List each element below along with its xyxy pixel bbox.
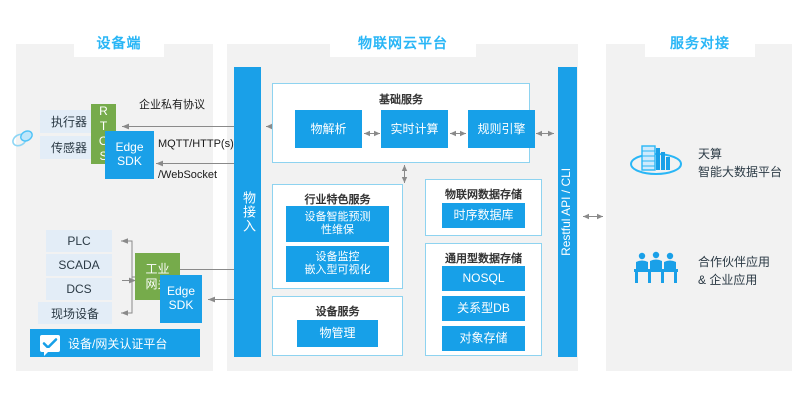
endpoint-actuator-label: 执行器 [51,113,87,130]
source-field-device-label: 现场设备 [51,305,99,322]
cloud-link-icon [10,127,36,149]
source-plc[interactable]: PLC [46,230,112,252]
tile-device-monitoring-line1: 设备监控 [316,251,360,264]
check-bubble-icon [40,335,60,352]
ingress-bar[interactable]: 物接入 [234,67,261,357]
arrow-rule-to-api [533,125,557,134]
section-header-device: 设备端 [74,29,164,57]
endpoint-sensor-label: 传感器 [51,139,87,156]
tile-object-storage-label: 对象存储 [459,331,507,345]
partner-meeting-icon [628,250,684,291]
section-header-service: 服务对接 [645,29,755,57]
edge-sdk-top-line1: Edge [115,141,143,155]
tile-device-monitoring-line2: 嵌入型可视化 [305,264,371,277]
edge-sdk-box-top[interactable]: Edge SDK [105,131,154,179]
group-iot-storage-title: 物联网数据存储 [426,186,541,202]
tile-predictive-maintenance-line2: 性维保 [321,224,354,237]
tile-timeseries-db[interactable]: 时序数据库 [442,203,525,228]
tile-rule-engine[interactable]: 规则引擎 [468,110,535,148]
architecture-diagram: 设备端 物联网云平台 服务对接 执行器 传感器 RTOS Edge SDK 企业… [0,0,802,411]
tile-relational-db[interactable]: 关系型DB [442,296,525,321]
arrow-compute-rule [447,125,469,134]
edge-sdk-top-line2: SDK [117,155,142,169]
service-item-partner-text: 合作伙伴应用 & 企业应用 [698,253,770,289]
api-cli-bar[interactable]: Restful API / CLI [558,67,577,357]
tile-realtime-compute-label: 实时计算 [390,122,438,136]
api-cli-bar-label: Restful API / CLI [561,168,575,256]
tile-thing-parsing[interactable]: 物解析 [295,110,362,148]
source-scada-label: SCADA [58,258,99,272]
tile-nosql[interactable]: NOSQL [442,266,525,291]
protocol-label-websocket: /WebSocket [158,169,217,181]
section-header-platform-label: 物联网云平台 [358,36,448,50]
tile-device-monitoring[interactable]: 设备监控 嵌入型可视化 [286,246,389,282]
section-header-platform: 物联网云平台 [330,29,476,57]
source-plc-label: PLC [67,234,90,248]
service-item-partner-line2: & 企业应用 [698,271,770,289]
source-scada[interactable]: SCADA [46,254,112,276]
tile-thing-management-label: 物管理 [319,326,355,340]
service-item-partner-line1: 合作伙伴应用 [698,253,770,271]
tile-thing-management[interactable]: 物管理 [297,320,378,347]
service-item-bigdata-line2: 智能大数据平台 [698,163,782,181]
ingress-bar-label: 物接入 [240,191,255,233]
group-base-service-title: 基础服务 [273,91,529,107]
protocol-label-private: 企业私有协议 [139,96,205,112]
edge-sdk-bottom-line2: SDK [169,299,194,313]
section-header-device-label: 设备端 [97,36,142,50]
arrow-parsing-compute [361,125,383,134]
bigdata-platform-icon [628,138,684,187]
tile-object-storage[interactable]: 对象存储 [442,326,525,351]
service-item-bigdata[interactable]: 天算 智能大数据平台 [628,138,782,187]
section-service [606,44,792,371]
source-dcs-label: DCS [66,282,91,296]
arrow-platform-to-service [580,208,606,217]
tile-predictive-maintenance[interactable]: 设备智能预测 性维保 [286,206,389,242]
tile-timeseries-db-label: 时序数据库 [453,208,513,222]
device-auth-platform-badge[interactable]: 设备/网关认证平台 [30,329,200,357]
tile-realtime-compute[interactable]: 实时计算 [381,110,448,148]
tile-predictive-maintenance-line1: 设备智能预测 [305,211,371,224]
edge-sdk-bottom-line1: Edge [167,285,195,299]
tile-nosql-label: NOSQL [462,271,504,285]
tile-rule-engine-label: 规则引擎 [477,122,525,136]
group-industry-service-title: 行业特色服务 [273,191,402,207]
device-auth-platform-label: 设备/网关认证平台 [68,335,167,352]
source-dcs[interactable]: DCS [46,278,112,300]
edge-sdk-box-bottom[interactable]: Edge SDK [160,275,202,323]
protocol-label-mqtt: MQTT/HTTP(s) [158,138,234,150]
group-general-storage-title: 通用型数据存储 [426,250,541,266]
source-field-device[interactable]: 现场设备 [38,302,112,324]
tile-relational-db-label: 关系型DB [457,301,510,315]
service-item-bigdata-text: 天算 智能大数据平台 [698,145,782,181]
service-item-partner[interactable]: 合作伙伴应用 & 企业应用 [628,250,770,291]
group-device-service-title: 设备服务 [273,303,402,319]
arrow-base-to-lower [400,163,409,185]
tile-thing-parsing-label: 物解析 [310,122,346,136]
section-header-service-label: 服务对接 [670,36,730,50]
endpoint-actuator[interactable]: 执行器 [40,110,98,133]
service-item-bigdata-line1: 天算 [698,145,782,163]
endpoint-sensor[interactable]: 传感器 [40,136,98,159]
